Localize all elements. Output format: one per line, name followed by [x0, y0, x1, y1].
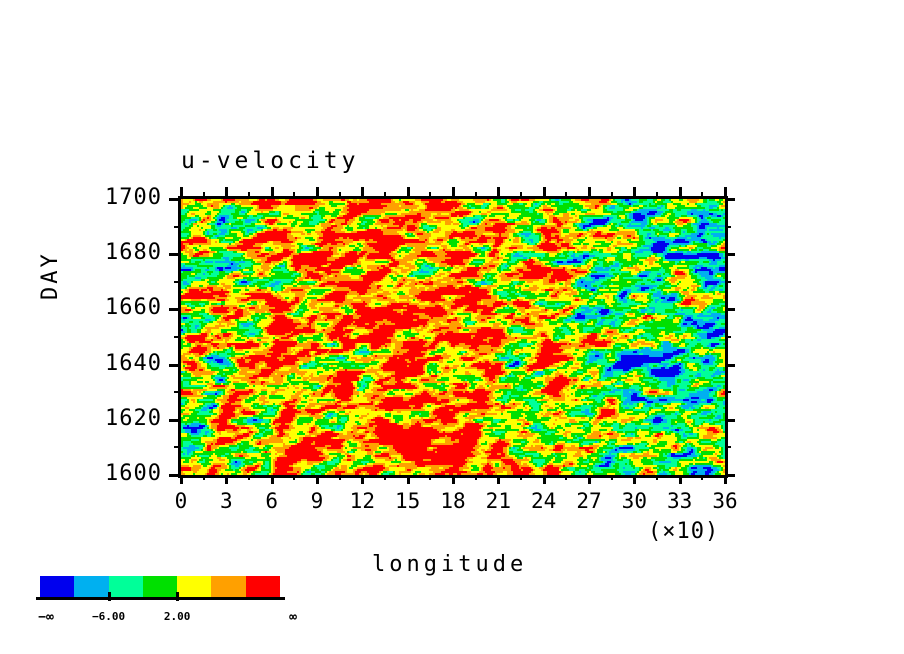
x-tick-major — [679, 475, 682, 484]
chart-canvas: u-velocity 160016201640166016801700 0369… — [0, 0, 904, 654]
y-tick-major — [725, 364, 735, 367]
y-tick-label: 1660 — [70, 295, 162, 320]
x-tick-major — [361, 475, 364, 484]
x-tick-minor — [611, 475, 613, 480]
x-axis-title: longitude — [372, 552, 527, 577]
x-tick-label: 21 — [476, 489, 520, 513]
y-tick-minor — [725, 446, 731, 448]
y-tick-major — [725, 474, 735, 477]
x-tick-label: 15 — [386, 489, 430, 513]
x-tick-major — [225, 475, 228, 484]
x-tick-minor — [701, 192, 703, 199]
colorbar-band-green — [143, 576, 177, 598]
x-tick-label: 27 — [567, 489, 611, 513]
y-tick-major — [169, 419, 181, 422]
x-tick-label: 18 — [431, 489, 475, 513]
y-tick-major — [725, 419, 735, 422]
heatmap-field — [181, 199, 725, 475]
y-tick-label: 1600 — [70, 461, 162, 486]
x-tick-major — [271, 187, 274, 199]
y-tick-major — [169, 474, 181, 477]
x-tick-minor — [293, 192, 295, 199]
y-tick-minor — [174, 391, 181, 393]
x-tick-minor — [384, 475, 386, 480]
x-tick-minor — [701, 475, 703, 480]
colorbar — [40, 576, 280, 598]
x-tick-label: 3 — [204, 489, 248, 513]
y-tick-minor — [725, 226, 731, 228]
x-tick-major — [361, 187, 364, 199]
x-tick-major — [316, 475, 319, 484]
x-tick-minor — [248, 192, 250, 199]
x-tick-major — [316, 187, 319, 199]
y-tick-major — [169, 364, 181, 367]
x-tick-label: 9 — [295, 489, 339, 513]
colorbar-tick — [108, 592, 111, 601]
x-tick-major — [452, 187, 455, 199]
colorbar-tick — [176, 592, 179, 601]
y-tick-minor — [725, 281, 731, 283]
x-tick-minor — [611, 192, 613, 199]
y-tick-major — [725, 308, 735, 311]
y-tick-minor — [174, 336, 181, 338]
y-tick-minor — [174, 281, 181, 283]
x-tick-minor — [293, 475, 295, 480]
y-tick-major — [725, 198, 735, 201]
x-tick-label: 12 — [340, 489, 384, 513]
chart-title: u-velocity — [181, 148, 359, 174]
x-tick-minor — [339, 475, 341, 480]
x-tick-minor — [656, 475, 658, 480]
y-tick-label: 1640 — [70, 351, 162, 376]
x-tick-label: 33 — [658, 489, 702, 513]
y-axis-title: DAY — [38, 251, 63, 300]
y-tick-major — [725, 253, 735, 256]
x-tick-minor — [339, 192, 341, 199]
x-tick-major — [588, 475, 591, 484]
y-tick-label: 1680 — [70, 240, 162, 265]
x-tick-major — [588, 187, 591, 199]
x-tick-major — [633, 475, 636, 484]
y-tick-minor — [174, 226, 181, 228]
x-tick-major — [452, 475, 455, 484]
x-tick-major — [497, 475, 500, 484]
x-tick-major — [407, 187, 410, 199]
x-tick-minor — [203, 192, 205, 199]
y-tick-major — [169, 253, 181, 256]
x-tick-major — [679, 187, 682, 199]
x-tick-minor — [565, 475, 567, 480]
y-tick-label: 1700 — [70, 185, 162, 210]
x-tick-minor — [656, 192, 658, 199]
colorbar-label: −6.00 — [73, 610, 145, 623]
x-tick-minor — [520, 192, 522, 199]
x-tick-major — [407, 475, 410, 484]
x-tick-minor — [475, 192, 477, 199]
x-tick-minor — [475, 475, 477, 480]
x-tick-major — [497, 187, 500, 199]
colorbar-band-spring-green — [109, 576, 143, 598]
y-tick-minor — [725, 336, 731, 338]
x-tick-label: 6 — [250, 489, 294, 513]
colorbar-band-cyan — [74, 576, 108, 598]
colorbar-band-yellow — [177, 576, 211, 598]
x-tick-label: 0 — [159, 489, 203, 513]
x-tick-minor — [429, 475, 431, 480]
x-tick-major — [633, 187, 636, 199]
x-axis-multiplier: (×10) — [648, 519, 719, 544]
colorbar-label: 2.00 — [141, 610, 213, 623]
colorbar-label: ∞ — [257, 610, 329, 625]
colorbar-band-blue — [40, 576, 74, 598]
x-tick-label: 24 — [522, 489, 566, 513]
y-tick-label: 1620 — [70, 406, 162, 431]
y-tick-minor — [725, 391, 731, 393]
x-tick-minor — [203, 475, 205, 480]
y-tick-major — [169, 198, 181, 201]
y-tick-minor — [174, 446, 181, 448]
x-tick-major — [543, 187, 546, 199]
x-tick-minor — [384, 192, 386, 199]
x-tick-major — [543, 475, 546, 484]
x-tick-label: 36 — [703, 489, 747, 513]
x-tick-minor — [429, 192, 431, 199]
colorbar-band-orange — [211, 576, 245, 598]
x-tick-major — [271, 475, 274, 484]
y-tick-major — [169, 308, 181, 311]
x-tick-minor — [520, 475, 522, 480]
colorbar-rule — [36, 597, 285, 600]
colorbar-label: −∞ — [10, 610, 82, 625]
x-tick-label: 30 — [612, 489, 656, 513]
colorbar-band-red — [246, 576, 280, 598]
x-tick-major — [225, 187, 228, 199]
x-tick-minor — [248, 475, 250, 480]
x-tick-minor — [565, 192, 567, 199]
heatmap-plot-area — [181, 199, 725, 475]
